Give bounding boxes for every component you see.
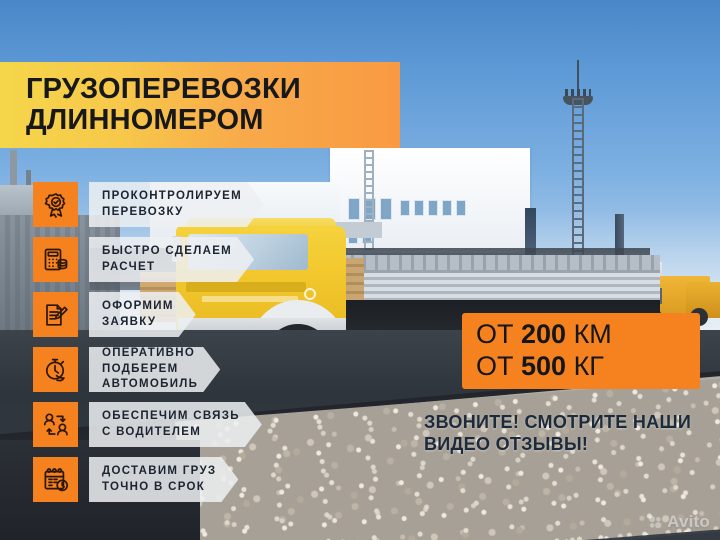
window [428, 200, 438, 216]
feature-item: ДОСТАВИМ ГРУЗ ТОЧНО В СРОК [33, 457, 363, 504]
feature-label: ОБЕСПЕЧИМ СВЯЗЬ С ВОДИТЕЛЕМ [89, 402, 262, 447]
feature-text-line-1: ПРОКОНТРОЛИРУЕМ [102, 189, 242, 205]
feature-text-line-2: ТОЧНО В СРОК [102, 480, 216, 496]
feature-text-line-1: ОПЕРАТИВНО [102, 346, 198, 362]
distance-value: 200 [521, 319, 566, 349]
distance-prefix: ОТ [476, 319, 521, 349]
calculator-icon [33, 237, 78, 282]
feature-text-line-3: АВТОМОБИЛЬ [102, 377, 198, 393]
feature-label: ОФОРМИМ ЗАЯВКУ [89, 292, 196, 337]
minimum-order-badge: ОТ 200 КМ ОТ 500 КГ [462, 313, 700, 389]
title-banner: ГРУЗОПЕРЕВОЗКИ ДЛИННОМЕРОМ [0, 62, 400, 148]
feature-text-line-2: ПЕРЕВОЗКУ [102, 205, 242, 221]
feature-item: ОФОРМИМ ЗАЯВКУ [33, 292, 363, 339]
weight-value: 500 [521, 351, 566, 381]
feature-item: ОБЕСПЕЧИМ СВЯЗЬ С ВОДИТЕЛЕМ [33, 402, 363, 449]
users-exchange-icon [33, 402, 78, 447]
feature-text-line-2: ЗАЯВКУ [102, 315, 174, 331]
feature-text-line-2: ПОДБЕРЕМ [102, 362, 198, 378]
avito-logo-icon [647, 514, 663, 530]
cta-line-1: ЗВОНИТЕ! СМОТРИТЕ НАШИ [424, 412, 714, 434]
avito-watermark-label: Avito [667, 512, 710, 532]
feature-text-line-1: БЫСТРО СДЕЛАЕМ [102, 244, 232, 260]
feature-item: БЫСТРО СДЕЛАЕМ РАСЧЕТ [33, 237, 363, 284]
feature-text-line-2: С ВОДИТЕЛЕМ [102, 425, 240, 441]
distance-unit: КМ [566, 319, 612, 349]
window [456, 200, 466, 216]
feature-text-line-1: ОБЕСПЕЧИМ СВЯЗЬ [102, 409, 240, 425]
lighting-tower [572, 98, 584, 260]
feature-item: ОПЕРАТИВНО ПОДБЕРЕМ АВТОМОБИЛЬ [33, 347, 363, 394]
window [400, 200, 410, 216]
stopwatch-hand-icon [33, 347, 78, 392]
feature-list: ПРОКОНТРОЛИРУЕМ ПЕРЕВОЗКУ [33, 182, 363, 512]
window [442, 200, 452, 216]
document-pencil-icon [33, 292, 78, 337]
title-line-2: ДЛИННОМЕРОМ [26, 105, 400, 136]
feature-label: ПРОКОНТРОЛИРУЕМ ПЕРЕВОЗКУ [89, 182, 264, 227]
feature-label: ДОСТАВИМ ГРУЗ ТОЧНО В СРОК [89, 457, 238, 502]
award-badge-icon [33, 182, 78, 227]
minimum-distance-line: ОТ 200 КМ [476, 319, 700, 351]
feature-label: БЫСТРО СДЕЛАЕМ РАСЧЕТ [89, 237, 254, 282]
weight-prefix: ОТ [476, 351, 521, 381]
calendar-clock-icon [33, 457, 78, 502]
window [414, 200, 424, 216]
call-to-action: ЗВОНИТЕ! СМОТРИТЕ НАШИ ВИДЕО ОТЗЫВЫ! [424, 412, 714, 456]
feature-label: ОПЕРАТИВНО ПОДБЕРЕМ АВТОМОБИЛЬ [89, 347, 220, 392]
advertisement-image: ГРУЗОПЕРЕВОЗКИ ДЛИННОМЕРОМ ПРОКОНТРОЛИРУ… [0, 0, 720, 540]
feature-text-line-2: РАСЧЕТ [102, 260, 232, 276]
feature-text-line-1: ОФОРМИМ [102, 299, 174, 315]
window [380, 198, 392, 220]
feature-text-line-1: ДОСТАВИМ ГРУЗ [102, 464, 216, 480]
window-row-mid [400, 200, 466, 216]
title-line-1: ГРУЗОПЕРЕВОЗКИ [26, 74, 400, 105]
weight-unit: КГ [566, 351, 604, 381]
minimum-weight-line: ОТ 500 КГ [476, 351, 700, 383]
avito-watermark: Avito [647, 512, 710, 532]
cta-line-2: ВИДЕО ОТЗЫВЫ! [424, 434, 714, 456]
feature-item: ПРОКОНТРОЛИРУЕМ ПЕРЕВОЗКУ [33, 182, 363, 229]
